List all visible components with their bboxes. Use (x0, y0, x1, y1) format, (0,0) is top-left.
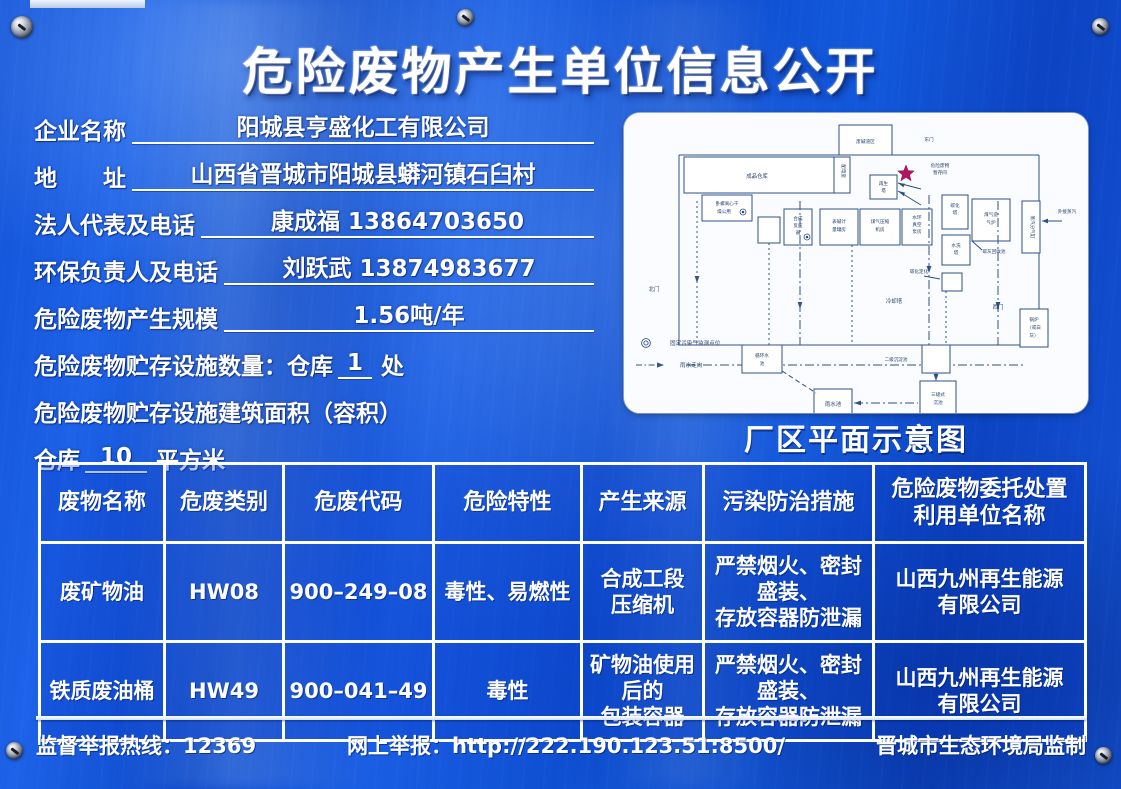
svg-text:二级沉淀池: 二级沉淀池 (885, 356, 908, 363)
field-value-address[interactable]: 山西省晋城市阳城县蟒河镇石臼村 (132, 164, 594, 191)
field-row-storage-area-label: 危险废物贮存设施建筑面积（容积） (34, 394, 594, 426)
svg-text:冷却塔: 冷却塔 (886, 297, 903, 305)
footer-hotline: 监督举报热线：12369 (36, 730, 256, 760)
field-unit-storage-count: 处 (381, 356, 404, 379)
svg-text:成品仓库: 成品仓库 (746, 172, 768, 180)
field-label-address: 地 址 (34, 168, 126, 191)
field-value-storage-count[interactable]: 1 (338, 352, 372, 379)
cell-entrusted-unit: 山西九州再生能源有限公司 (874, 642, 1086, 741)
svg-text:塔: 塔 (881, 187, 886, 194)
svg-text:灰）: 灰） (1029, 332, 1038, 339)
cell-hazard-property: 毒性 (434, 642, 582, 741)
svg-text:气炉: 气炉 (986, 219, 996, 226)
svg-text:废碱渣区: 废碱渣区 (856, 138, 875, 145)
cell-entrusted-unit: 山西九州再生能源有限公司 (874, 543, 1086, 642)
svg-text:反应: 反应 (793, 222, 803, 229)
svg-text:合成: 合成 (793, 215, 803, 222)
footer-issuer: 晋城市生态环境局监制 (876, 730, 1086, 760)
cell-waste-code: 900–041–49 (284, 642, 434, 741)
svg-text:水洗: 水洗 (951, 242, 961, 249)
field-label-env-officer: 环保负责人及电话 (34, 262, 218, 285)
cell-control-measures: 严禁烟火、密封盛装、存放容器防泄漏 (704, 543, 874, 642)
svg-text:泵房: 泵房 (912, 228, 922, 235)
header-waste-category: 危废类别 (165, 464, 284, 543)
svg-text:碳化: 碳化 (950, 202, 960, 209)
svg-text:固定污染气监测点位: 固定污染气监测点位 (670, 339, 721, 347)
svg-text:机房: 机房 (875, 226, 885, 233)
cell-source: 矿物油使用后的包装容器 (582, 642, 704, 741)
field-row-storage-count: 危险废物贮存设施数量：仓库 1 处 (34, 347, 594, 379)
table-row: 废矿物油 HW08 900–249–08 毒性、易燃性 合成工段压缩机 严禁烟火… (40, 543, 1086, 642)
svg-text:量罐房: 量罐房 (832, 226, 846, 233)
svg-text:碳灰回收池: 碳灰回收池 (983, 248, 1006, 255)
svg-text:循环水: 循环水 (755, 352, 769, 359)
svg-text:燥公用: 燥公用 (717, 208, 731, 215)
svg-text:蒸汽分气缸: 蒸汽分气缸 (1029, 216, 1036, 239)
svg-text:三级式: 三级式 (931, 391, 945, 398)
footer-divider (36, 716, 1086, 720)
plant-layout-diagram: .bx{fill:#ffffff;stroke:#2b4f86;stroke-w… (624, 113, 1088, 413)
field-value-env-officer[interactable]: 刘跃武 13874983677 (224, 258, 594, 285)
cell-waste-name: 废矿物油 (40, 543, 165, 642)
table-header-row: 废物名称 危废类别 危废代码 危险特性 产生来源 污染防治措施 危险废物委托处置… (40, 464, 1086, 543)
svg-text:真空: 真空 (912, 221, 922, 228)
svg-text:雨水走向: 雨水走向 (680, 361, 703, 369)
mounting-bolt-bottom-left (6, 742, 23, 759)
field-row-env-officer: 环保负责人及电话 刘跃武 13874983677 (34, 253, 594, 285)
svg-text:碳化定化: 碳化定化 (910, 268, 929, 275)
hazardous-waste-table: 废物名称 危废类别 危废代码 危险特性 产生来源 污染防治措施 危险废物委托处置… (38, 462, 1087, 742)
svg-text:外接蒸汽: 外接蒸汽 (1058, 208, 1077, 215)
svg-text:塔: 塔 (954, 249, 959, 256)
mounting-bolt-bottom-right (1095, 747, 1112, 764)
header-entrusted-unit: 危险废物委托处置利用单位名称 (874, 464, 1086, 543)
field-label-legal-rep: 法人代表及电话 (34, 215, 195, 238)
cell-source: 合成工段压缩机 (582, 543, 704, 642)
cell-waste-name: 铁质废油桶 (40, 642, 165, 741)
cell-control-measures: 严禁烟火、密封盛装、存放容器防泄漏 (704, 642, 874, 741)
svg-text:北门: 北门 (649, 285, 660, 293)
mounting-bolt-top-center (457, 9, 474, 26)
svg-text:锅炉: 锅炉 (1029, 316, 1039, 323)
svg-text:煤气造: 煤气造 (984, 211, 998, 218)
footer-online-report[interactable]: 网上举报：http://222.190.123.51:8500/ (347, 730, 785, 760)
field-label-storage-count: 危险废物贮存设施数量：仓库 (34, 356, 333, 379)
svg-text:表碱计: 表碱计 (832, 218, 846, 225)
footer-bar: 监督举报热线：12369 网上举报：http://222.190.123.51:… (36, 730, 1086, 760)
svg-text:暂存间: 暂存间 (933, 169, 947, 176)
svg-text:雨水池: 雨水池 (825, 400, 842, 408)
field-value-company-name[interactable]: 阳城县亨盛化工有限公司 (132, 117, 594, 144)
svg-text:再生: 再生 (879, 180, 889, 187)
field-row-generation-scale: 危险废物产生规模 1.56吨/年 (34, 300, 594, 332)
cell-hazard-property: 毒性、易燃性 (434, 543, 582, 642)
header-control-measures: 污染防治措施 (704, 464, 874, 543)
cell-waste-category: HW08 (165, 543, 284, 642)
svg-text:东门: 东门 (924, 136, 934, 143)
field-value-generation-scale[interactable]: 1.56吨/年 (224, 305, 594, 332)
plant-layout-caption: 厂区平面示意图 (624, 415, 1088, 459)
svg-text:配电室: 配电室 (840, 164, 847, 178)
top-edge-strip (30, 0, 145, 8)
svg-text:池: 池 (760, 360, 765, 367)
cell-waste-code: 900–249–08 (284, 543, 434, 642)
field-label-company-name: 企业名称 (34, 121, 126, 144)
table-row: 铁质废油桶 HW49 900–041–49 毒性 矿物油使用后的包装容器 严禁烟… (40, 642, 1086, 741)
field-label-generation-scale: 危险废物产生规模 (34, 309, 218, 332)
header-waste-code: 危废代码 (284, 464, 434, 543)
svg-text:卧螺离心干: 卧螺离心干 (716, 200, 739, 207)
header-source: 产生来源 (582, 464, 704, 543)
svg-text:塔: 塔 (953, 209, 958, 216)
field-value-legal-rep[interactable]: 康成福 13864703650 (201, 211, 594, 238)
field-row-company-name: 企业名称 阳城县亨盛化工有限公司 (34, 112, 594, 144)
field-row-address: 地 址 山西省晋城市阳城县蟒河镇石臼村 (34, 159, 594, 191)
svg-text:水环: 水环 (912, 214, 922, 221)
field-label-storage-area: 危险废物贮存设施建筑面积（容积） (34, 403, 402, 426)
svg-text:煤气压缩: 煤气压缩 (871, 218, 890, 225)
company-info-block: 企业名称 阳城县亨盛化工有限公司 地 址 山西省晋城市阳城县蟒河镇石臼村 法人代… (34, 112, 594, 488)
header-hazard-property: 危险特性 (434, 464, 582, 543)
svg-text:沉池: 沉池 (933, 399, 943, 406)
field-row-legal-rep: 法人代表及电话 康成福 13864703650 (34, 206, 594, 238)
header-waste-name: 废物名称 (40, 464, 165, 543)
page-title: 危险废物产生单位信息公开 (0, 32, 1121, 104)
svg-text:危险废物: 危险废物 (931, 162, 950, 169)
svg-text:（或白: （或白 (1027, 324, 1041, 331)
cell-waste-category: HW49 (165, 642, 284, 741)
